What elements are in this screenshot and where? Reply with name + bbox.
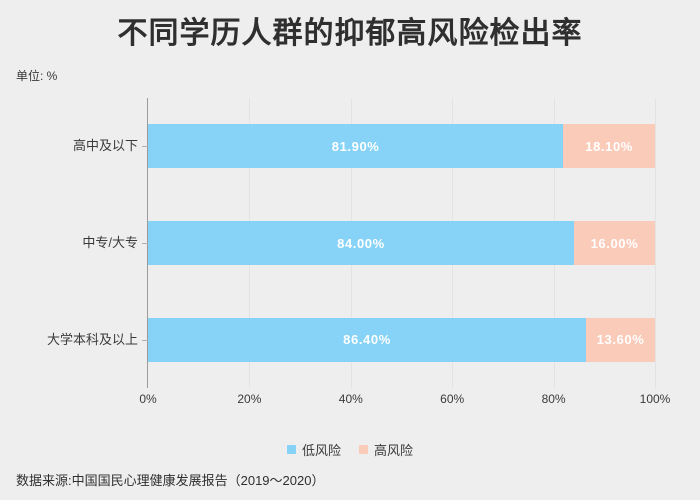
bar-value-label: 18.10% bbox=[585, 139, 633, 154]
legend-label: 低风险 bbox=[302, 440, 341, 459]
y-axis-tick bbox=[142, 146, 148, 147]
x-axis-tick-label: 20% bbox=[219, 392, 279, 406]
bar-row[interactable]: 81.90%18.10% bbox=[148, 124, 655, 168]
bar-segment-high-risk[interactable]: 18.10% bbox=[563, 124, 655, 168]
bar-segment-high-risk[interactable]: 16.00% bbox=[574, 221, 655, 265]
bar-value-label: 16.00% bbox=[591, 236, 639, 251]
y-axis-tick bbox=[142, 243, 148, 244]
x-axis-tick-label: 60% bbox=[422, 392, 482, 406]
bar-value-label: 81.90% bbox=[332, 139, 380, 154]
x-axis-tick-label: 100% bbox=[625, 392, 685, 406]
gridline bbox=[655, 98, 656, 388]
plot-area: 81.90%18.10%84.00%16.00%86.40%13.60% bbox=[148, 98, 655, 388]
x-axis-tick-label: 0% bbox=[118, 392, 178, 406]
bar-value-label: 86.40% bbox=[343, 332, 391, 347]
chart-container: 不同学历人群的抑郁高风险检出率 单位: % 高中及以下中专/大专大学本科及以上 … bbox=[0, 0, 700, 500]
chart-subtitle-unit: 单位: % bbox=[16, 68, 57, 84]
bar-value-label: 84.00% bbox=[337, 236, 385, 251]
category-label: 大学本科及以上 bbox=[0, 318, 138, 362]
bar-segment-low-risk[interactable]: 84.00% bbox=[148, 221, 574, 265]
bar-segment-low-risk[interactable]: 86.40% bbox=[148, 318, 586, 362]
x-axis-tick-label: 80% bbox=[524, 392, 584, 406]
bar-segment-low-risk[interactable]: 81.90% bbox=[148, 124, 563, 168]
chart-title: 不同学历人群的抑郁高风险检出率 bbox=[0, 14, 700, 54]
legend-swatch-icon bbox=[287, 445, 296, 454]
legend-item[interactable]: 低风险 bbox=[287, 440, 341, 459]
legend-item[interactable]: 高风险 bbox=[359, 440, 413, 459]
bar-value-label: 13.60% bbox=[597, 332, 645, 347]
legend-swatch-icon bbox=[359, 445, 368, 454]
data-source-note: 数据来源:中国国民心理健康发展报告（2019～2020） bbox=[16, 470, 324, 489]
y-axis-tick bbox=[142, 340, 148, 341]
x-axis-tick-label: 40% bbox=[321, 392, 381, 406]
bar-row[interactable]: 84.00%16.00% bbox=[148, 221, 655, 265]
bar-segment-high-risk[interactable]: 13.60% bbox=[586, 318, 655, 362]
bar-row[interactable]: 86.40%13.60% bbox=[148, 318, 655, 362]
chart-legend: 低风险高风险 bbox=[0, 440, 700, 459]
legend-label: 高风险 bbox=[374, 440, 413, 459]
category-label: 中专/大专 bbox=[0, 221, 138, 265]
category-label: 高中及以下 bbox=[0, 124, 138, 168]
